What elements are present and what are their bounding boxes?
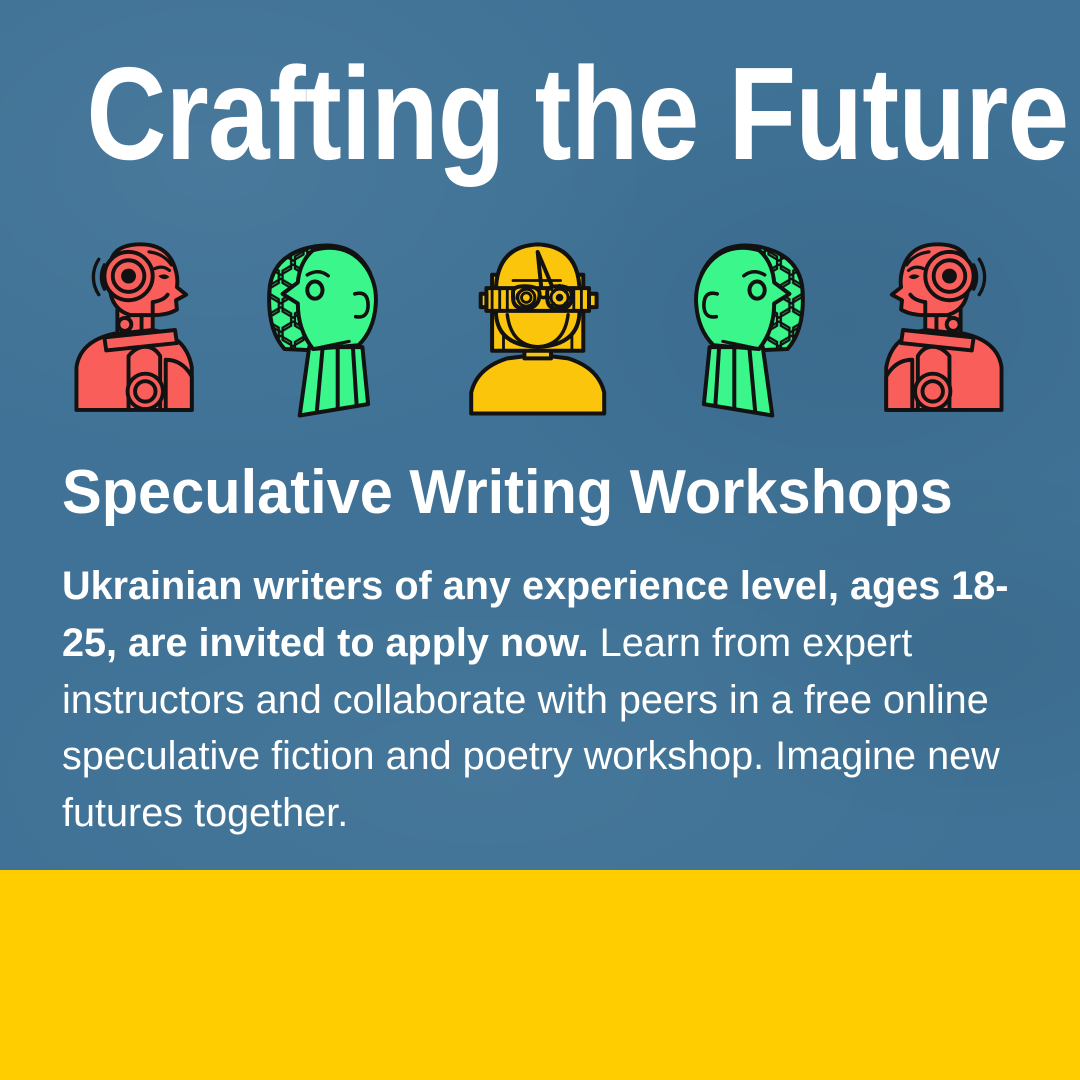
body-copy: Ukrainian writers of any experience leve… (62, 558, 1022, 842)
figure-robot-head-right (886, 244, 1001, 410)
figure-row (0, 225, 1080, 435)
figure-robot-head-left (76, 244, 191, 410)
figure-goggles-person (471, 244, 604, 413)
section-headline: Speculative Writing Workshops (62, 460, 1012, 525)
figure-hex-head-left (269, 246, 376, 416)
figure-hex-head-right (696, 246, 803, 416)
illustration-band (0, 225, 1080, 435)
page-title: Crafting the Future (86, 48, 993, 180)
footer-bar: IOWA International Writing Program DEPAR… (0, 870, 1080, 1080)
poster-canvas: Crafting the Future (0, 0, 1080, 1080)
